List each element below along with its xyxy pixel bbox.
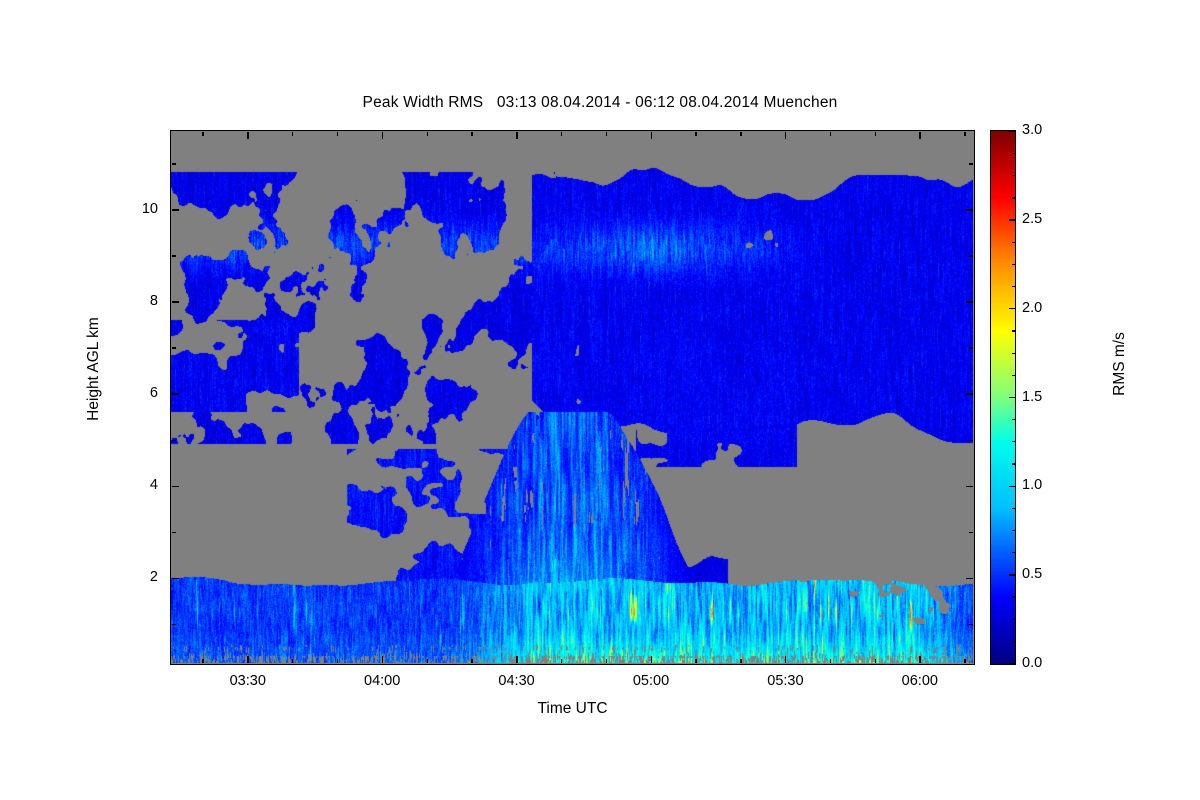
colorbar-tick	[1009, 397, 1015, 398]
colorbar-tick	[1009, 308, 1015, 309]
colorbar-tick-label: 1.0	[1022, 477, 1082, 493]
colorbar-tick	[1012, 463, 1015, 464]
y-tick-label: 4	[98, 477, 158, 493]
x-tick	[516, 656, 517, 663]
y-tick	[172, 209, 179, 210]
colorbar-tick	[1012, 175, 1015, 176]
x-tick	[830, 659, 831, 663]
colorbar-tick-label: 1.5	[1022, 389, 1082, 405]
x-tick-label: 05:00	[606, 673, 696, 689]
y-tick	[969, 347, 973, 348]
colorbar-title: RMS m/s	[1111, 264, 1129, 464]
y-tick	[172, 486, 179, 487]
y-tick-label: 2	[98, 569, 158, 585]
x-tick	[606, 132, 607, 136]
colorbar-tick	[1012, 530, 1015, 531]
x-tick	[337, 132, 338, 136]
y-tick	[969, 163, 973, 164]
colorbar-tick	[1012, 264, 1015, 265]
colorbar-tick	[1009, 219, 1015, 220]
y-tick	[969, 440, 973, 441]
y-tick-label: 6	[98, 385, 158, 401]
y-tick	[172, 255, 176, 256]
x-tick	[202, 659, 203, 663]
y-tick	[172, 393, 179, 394]
y-tick-label: 8	[98, 293, 158, 309]
y-tick	[966, 393, 973, 394]
x-tick	[830, 132, 831, 136]
x-tick	[964, 132, 965, 136]
x-tick	[382, 656, 383, 663]
x-tick	[606, 659, 607, 663]
colorbar-tick	[1012, 619, 1015, 620]
y-tick	[172, 163, 176, 164]
y-tick	[966, 578, 973, 579]
colorbar-tick	[1012, 153, 1015, 154]
colorbar-tick	[1012, 441, 1015, 442]
x-tick	[471, 659, 472, 663]
colorbar-tick-label: 0.0	[1022, 655, 1082, 671]
colorbar-tick	[1009, 131, 1015, 132]
x-tick	[919, 656, 920, 663]
x-tick	[247, 132, 248, 139]
y-tick	[966, 301, 973, 302]
colorbar-tick	[1009, 574, 1015, 575]
x-tick	[651, 656, 652, 663]
figure-title: Peak Width RMS 03:13 08.04.2014 - 06:12 …	[0, 94, 1200, 112]
x-tick	[875, 132, 876, 136]
x-tick	[427, 659, 428, 663]
x-tick	[919, 132, 920, 139]
heatmap-plot-area[interactable]	[170, 130, 975, 665]
colorbar-tick	[1012, 353, 1015, 354]
x-tick	[427, 132, 428, 136]
y-tick	[172, 532, 176, 533]
x-tick	[292, 659, 293, 663]
colorbar-tick-label: 0.5	[1022, 566, 1082, 582]
x-tick	[964, 659, 965, 663]
colorbar-tick	[1012, 641, 1015, 642]
x-tick	[875, 659, 876, 663]
colorbar-tick	[1012, 197, 1015, 198]
y-tick	[966, 486, 973, 487]
colorbar-tick-label: 2.5	[1022, 211, 1082, 227]
x-tick	[561, 659, 562, 663]
y-tick	[172, 624, 176, 625]
y-tick	[966, 209, 973, 210]
x-tick	[561, 132, 562, 136]
x-tick-label: 03:30	[203, 673, 293, 689]
colorbar-tick	[1012, 330, 1015, 331]
colorbar-tick	[1012, 286, 1015, 287]
x-tick	[337, 659, 338, 663]
y-tick	[969, 624, 973, 625]
y-tick-label: 10	[98, 201, 158, 217]
heatmap-image	[171, 131, 973, 663]
colorbar-tick	[1012, 552, 1015, 553]
x-tick-label: 06:00	[875, 673, 965, 689]
y-tick	[172, 301, 179, 302]
x-tick	[785, 656, 786, 663]
x-tick	[695, 659, 696, 663]
x-tick	[471, 132, 472, 136]
x-tick	[740, 132, 741, 136]
figure-canvas: Peak Width RMS 03:13 08.04.2014 - 06:12 …	[0, 0, 1200, 800]
colorbar-tick	[1009, 486, 1015, 487]
x-tick	[247, 656, 248, 663]
x-tick	[292, 132, 293, 136]
colorbar-tick	[1012, 242, 1015, 243]
x-tick	[202, 132, 203, 136]
colorbar-tick	[1012, 596, 1015, 597]
y-tick	[969, 532, 973, 533]
colorbar-tick	[1009, 663, 1015, 664]
x-tick-label: 04:30	[472, 673, 562, 689]
colorbar-tick	[1012, 375, 1015, 376]
y-tick	[172, 347, 176, 348]
x-tick	[695, 132, 696, 136]
y-tick	[969, 255, 973, 256]
x-tick	[785, 132, 786, 139]
colorbar-tick-label: 2.0	[1022, 300, 1082, 316]
x-axis-title: Time UTC	[170, 700, 975, 718]
x-tick	[382, 132, 383, 139]
x-tick	[740, 659, 741, 663]
x-tick	[651, 132, 652, 139]
x-tick-label: 05:30	[740, 673, 830, 689]
y-axis-title: Height AGL km	[85, 269, 103, 469]
colorbar-tick	[1012, 419, 1015, 420]
y-tick	[172, 440, 176, 441]
y-tick	[172, 578, 179, 579]
x-tick	[516, 132, 517, 139]
colorbar-tick	[1012, 508, 1015, 509]
x-tick-label: 04:00	[337, 673, 427, 689]
colorbar-tick-label: 3.0	[1022, 122, 1082, 138]
